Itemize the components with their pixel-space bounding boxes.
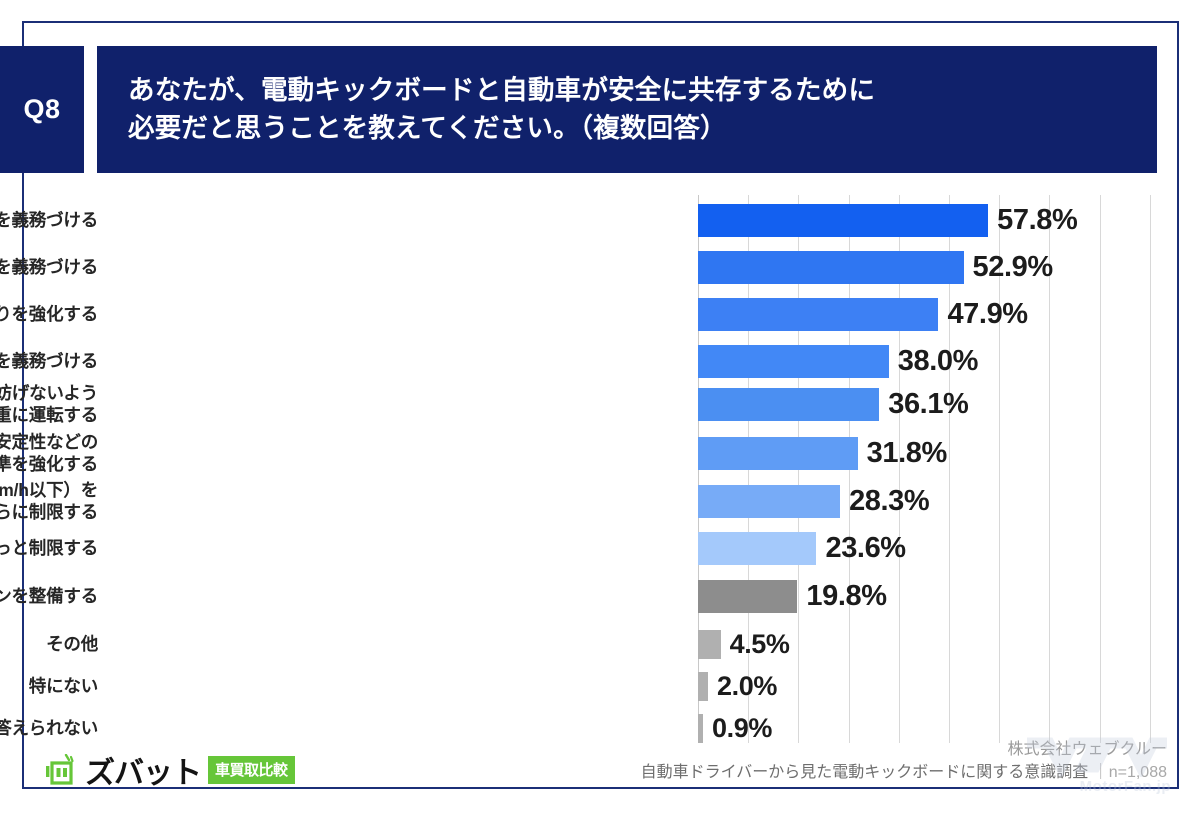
- chart-row: 電動キックボードのブレーキ性能や安定性などの 安全基準を強化する31.8%: [22, 431, 1179, 475]
- chart-row: 電動キックボードの利用者には、安全運転指導を義務づける52.9%: [22, 245, 1179, 289]
- logo-mark-icon: [44, 754, 78, 786]
- bar-value-label: 31.8%: [867, 437, 947, 470]
- bar-container: 4.5%: [698, 622, 790, 666]
- chart-row: 電動キックボードの利用者が、車の流れを妨げないよう 慎重に運転する36.1%: [22, 382, 1179, 426]
- bar-container: 36.1%: [698, 382, 968, 426]
- bar-category-label: 電動キックボードに反射材やライトの装着を義務づける: [0, 350, 98, 372]
- company-name: 株式会社ウェブクルー: [641, 740, 1167, 761]
- chart-row: 交通違反をする電動キックボードへの取り締まりを強化する47.9%: [22, 292, 1179, 336]
- bar-value-label: 0.9%: [712, 713, 772, 744]
- bar-category-label: 特にない: [0, 675, 98, 697]
- bar-value-label: 2.0%: [717, 671, 777, 702]
- bar-category-label: 交通違反をする電動キックボードへの取り締まりを強化する: [0, 303, 98, 325]
- page-title: あなたが、電動キックボードと自動車が安全に共存するために 必要だと思うことを教え…: [128, 72, 875, 147]
- bar-container: 31.8%: [698, 431, 947, 475]
- bar-category-label: 電動キックボードの最高速度（車道では時速20km/h以下）を さらに制限する: [0, 479, 98, 524]
- bar: [698, 204, 988, 237]
- bar-category-label: 将来的には、電動キックボード専用レーンを整備する: [0, 585, 98, 607]
- header-gap: [84, 46, 97, 173]
- bar-chart: 電動キックボードの利用には、免許または講習を義務づける57.8%電動キックボード…: [22, 190, 1179, 740]
- chart-row: 電動キックボードに反射材やライトの装着を義務づける38.0%: [22, 339, 1179, 383]
- bar: [698, 437, 858, 470]
- bar-category-label: 電動キックボードの利用者が、車の流れを妨げないよう 慎重に運転する: [0, 382, 98, 427]
- bar: [698, 485, 840, 518]
- survey-n-value: n=1,088: [1109, 764, 1167, 781]
- question-header: Q8 あなたが、電動キックボードと自動車が安全に共存するために 必要だと思うこと…: [0, 46, 1157, 173]
- bar-value-label: 23.6%: [825, 532, 905, 565]
- question-number-badge: Q8: [0, 46, 84, 173]
- bar-category-label: その他: [0, 633, 98, 655]
- logo-tagline-badge: 車買取比較: [208, 756, 295, 784]
- question-number-label: Q8: [23, 94, 60, 125]
- bar-value-label: 36.1%: [888, 388, 968, 421]
- bar-value-label: 52.9%: [973, 251, 1053, 284]
- chart-row: 電動キックボードの利用には、免許または講習を義務づける57.8%: [22, 198, 1179, 242]
- survey-caption: 自動車ドライバーから見た電動キックボードに関する意識調査 ｜n=1,088: [641, 761, 1167, 785]
- bar-category-label: 電動キックボードの利用には、免許または講習を義務づける: [0, 209, 98, 231]
- bar-value-label: 47.9%: [947, 298, 1027, 331]
- bar-container: 2.0%: [698, 664, 777, 708]
- bar: [698, 630, 721, 659]
- chart-row: その他4.5%: [22, 622, 1179, 666]
- chart-row: 電動キックボードの利用可能エリアをもっと制限する23.6%: [22, 526, 1179, 570]
- bar: [698, 672, 708, 701]
- slide-footer: ズバット 車買取比較 株式会社ウェブクルー 自動車ドライバーから見た電動キックボ…: [22, 740, 1179, 789]
- bar: [698, 532, 816, 565]
- slide-root: Q8 あなたが、電動キックボードと自動車が安全に共存するために 必要だと思うこと…: [0, 0, 1200, 830]
- bar-container: 28.3%: [698, 479, 929, 523]
- zubatto-logo: ズバット 車買取比較: [44, 748, 295, 792]
- chart-row: 特にない2.0%: [22, 664, 1179, 708]
- bar: [698, 345, 889, 378]
- survey-separator: ｜: [1093, 764, 1109, 781]
- bar: [698, 298, 938, 331]
- bar: [698, 580, 797, 613]
- bar-container: 47.9%: [698, 292, 1028, 336]
- bar-value-label: 57.8%: [997, 204, 1077, 237]
- bar-value-label: 28.3%: [849, 485, 929, 518]
- chart-row: 電動キックボードの最高速度（車道では時速20km/h以下）を さらに制限する28…: [22, 479, 1179, 523]
- survey-title: 自動車ドライバーから見た電動キックボードに関する意識調査: [641, 764, 1089, 781]
- bar-value-label: 4.5%: [730, 629, 790, 660]
- bar-container: 19.8%: [698, 574, 887, 618]
- bar-category-label: 電動キックボードの利用可能エリアをもっと制限する: [0, 537, 98, 559]
- bar-category-label: 電動キックボードの利用者には、安全運転指導を義務づける: [0, 256, 98, 278]
- bar: [698, 714, 703, 743]
- bar-value-label: 38.0%: [898, 345, 978, 378]
- bar: [698, 388, 879, 421]
- bar-category-label: 電動キックボードのブレーキ性能や安定性などの 安全基準を強化する: [0, 431, 98, 476]
- bar-value-label: 19.8%: [806, 580, 886, 613]
- bar-container: 57.8%: [698, 198, 1077, 242]
- question-title-bar: あなたが、電動キックボードと自動車が安全に共存するために 必要だと思うことを教え…: [97, 46, 1157, 173]
- bar-container: 23.6%: [698, 526, 906, 570]
- bar-container: 38.0%: [698, 339, 978, 383]
- logo-wordmark: ズバット: [85, 748, 201, 792]
- bar: [698, 251, 964, 284]
- survey-sample-size: ｜n=1,088: [1093, 764, 1167, 781]
- bar-category-label: わからない/答えられない: [0, 717, 98, 739]
- footer-attribution: 株式会社ウェブクルー 自動車ドライバーから見た電動キックボードに関する意識調査 …: [641, 740, 1167, 785]
- bar-container: 52.9%: [698, 245, 1053, 289]
- chart-row: 将来的には、電動キックボード専用レーンを整備する19.8%: [22, 574, 1179, 618]
